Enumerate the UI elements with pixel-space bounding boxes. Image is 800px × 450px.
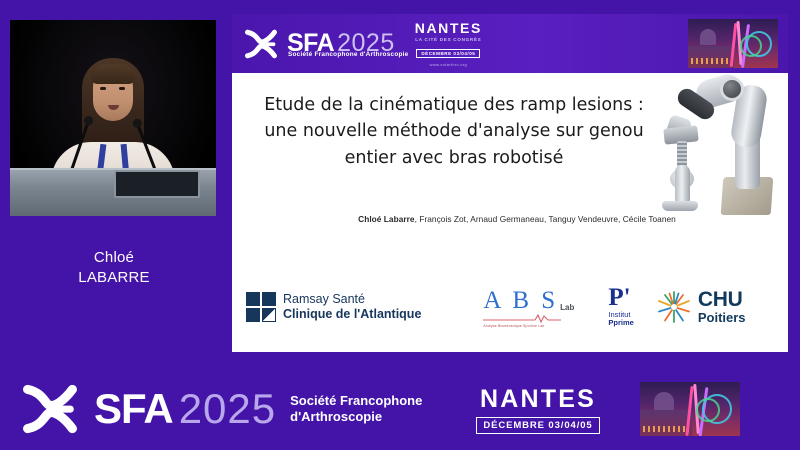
abs-wordmark: A B S (483, 287, 558, 315)
presentation-slide[interactable]: SFA 2025 Société Francophone d'Arthrosco… (232, 14, 788, 352)
author-coauthors: , François Zot, Arnaud Germaneau, Tanguy… (415, 214, 676, 224)
speaker-eye-left (100, 87, 106, 90)
chu-line1: CHU (698, 289, 746, 311)
speaker-fringe (91, 64, 135, 84)
footer-society-line1: Société Francophone (290, 393, 422, 409)
slide-city-block: NANTES LA CITÉ DES CONGRÈS DÉCEMBRE 03/0… (415, 20, 482, 67)
pprime-mark: P' (608, 286, 630, 310)
slide-dates: DÉCEMBRE 03/04/05 (416, 49, 480, 58)
logo-chu-poitiers: CHU Poitiers (656, 289, 746, 325)
abs-caption: Analyse Biomécanique Sportive Lab (483, 324, 544, 328)
ramsay-line1: Ramsay Santé (283, 292, 421, 307)
chu-line2: Poitiers (698, 311, 746, 325)
sfa-logo-icon (244, 28, 278, 60)
footer-society-line2: d'Arthroscopie (290, 409, 422, 425)
footer-brand-sfa: SFA (94, 385, 173, 433)
robot-joint (720, 77, 744, 101)
logo-ramsay-sante: Ramsay Santé Clinique de l'Atlantique (246, 292, 421, 323)
footer-city-block: NANTES DÉCEMBRE 03/04/05 (476, 385, 599, 434)
slide-title: Etude de la cinématique des ramp lesions… (254, 92, 654, 171)
heartbeat-icon (483, 314, 561, 323)
sponsor-logo-row: Ramsay Santé Clinique de l'Atlantique A … (232, 268, 788, 352)
slide-header-banner: SFA 2025 Société Francophone d'Arthrosco… (232, 14, 788, 73)
ramsay-line2: Clinique de l'Atlantique (283, 307, 421, 322)
slide-brand-tagline: Société Francophone d'Arthroscopie (288, 51, 408, 58)
nantes-photo-thumbnail (688, 19, 778, 68)
podium-monitor (114, 170, 200, 198)
event-footer-banner: SFA 2025 Société Francophone d'Arthrosco… (0, 368, 800, 450)
sfa-logo-icon (22, 382, 78, 436)
ramsay-grid-icon (246, 292, 276, 322)
bone-shaft (675, 165, 690, 205)
slide-body: Etude de la cinématique des ramp lesions… (232, 73, 788, 352)
logo-institut-pprime: P' Institut Pprime (608, 286, 633, 328)
speaker-panel: Chloé LABARRE (0, 0, 228, 368)
footer-brand-year: 2025 (179, 385, 276, 433)
footer-dates: DÉCEMBRE 03/04/05 (476, 417, 599, 434)
slide-city-name: NANTES (415, 20, 482, 36)
slide-url: www.sofarthro.org (415, 62, 482, 67)
pprime-line2: Pprime (608, 318, 633, 327)
logo-abs-lab: A B S Lab Analyse Biomécanique Sportive … (483, 287, 574, 328)
speaker-video[interactable] (10, 20, 216, 216)
footer-society-name: Société Francophone d'Arthroscopie (290, 393, 422, 425)
abs-lab-label: Lab (560, 303, 574, 312)
speaker-last-name: LABARRE (0, 268, 228, 288)
speaker-eye-right (119, 87, 125, 90)
starburst-icon (656, 289, 692, 325)
robotic-arm-figure (636, 69, 786, 269)
footer-city-name: NANTES (476, 385, 599, 414)
slide-venue: LA CITÉ DES CONGRÈS (415, 37, 482, 42)
specimen-mount (662, 201, 698, 211)
footer-nantes-photo (640, 382, 740, 436)
speaker-first-name: Chloé (0, 248, 228, 268)
author-presenter: Chloé Labarre (358, 214, 414, 224)
podium (10, 168, 216, 216)
speaker-name: Chloé LABARRE (0, 248, 228, 287)
slide-authors: Chloé Labarre, François Zot, Arnaud Germ… (287, 214, 747, 224)
